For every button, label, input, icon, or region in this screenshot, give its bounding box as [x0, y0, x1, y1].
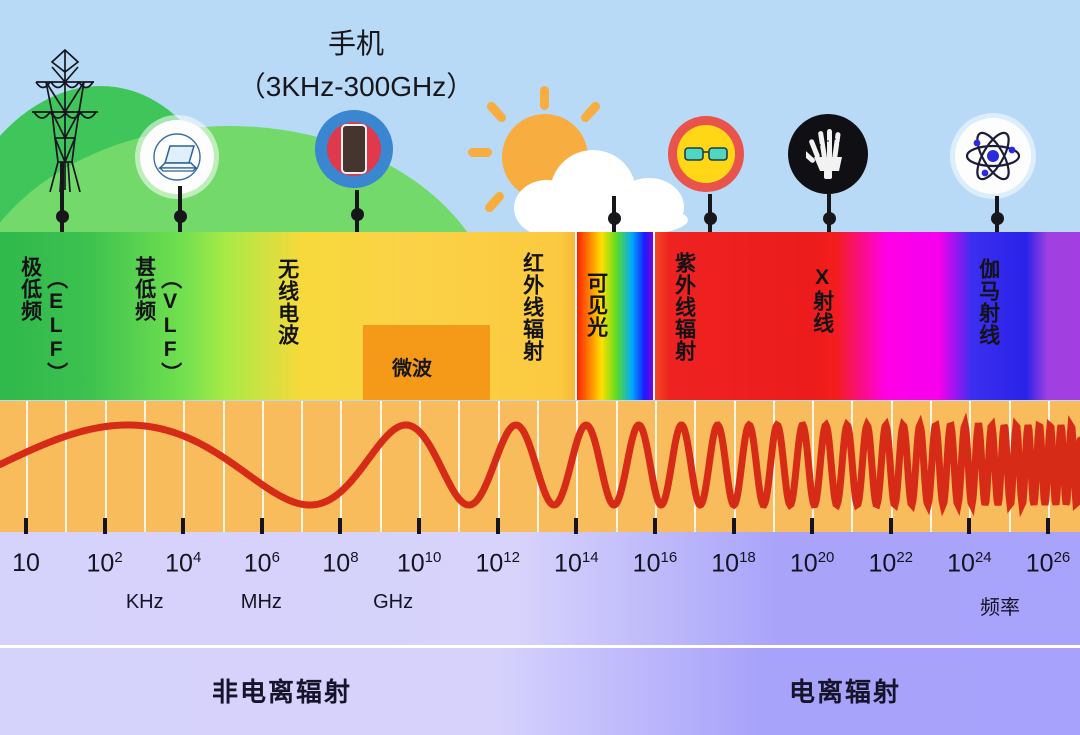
axis-title-frequency: 频率: [980, 591, 1020, 620]
band-label-elf-2: （ELF）: [44, 268, 67, 384]
axis-tick-label: 1022: [869, 549, 914, 578]
band-label-radio: 无线电波: [275, 258, 298, 346]
axis-tick: [496, 518, 500, 534]
axis-unit-mhz: MHz: [241, 591, 282, 614]
band-label-infrared: 红外线辐射: [520, 252, 543, 362]
sunglasses-lens-group: [677, 125, 735, 183]
waveform-curve: [0, 401, 1080, 532]
axis-tick: [574, 518, 578, 534]
axis-unit-ghz: GHz: [373, 591, 413, 614]
axis-tick-label: 1024: [947, 549, 992, 578]
axis-tick-label: 1016: [633, 549, 678, 578]
axis-tick: [24, 518, 28, 534]
footer-label-non-ionizing: 非电离辐射: [212, 672, 352, 709]
phone-red-ring: [327, 122, 381, 176]
band-label-gamma: 伽马射线: [976, 258, 999, 346]
axis-tick-label: 1014: [554, 549, 599, 578]
pin-head-elf: [56, 210, 69, 223]
band-label-vlf-1: 甚低频: [132, 256, 155, 322]
mobile-phone-icon: [315, 110, 393, 188]
axis-tick-label: 1018: [711, 549, 756, 578]
pin-head-uv: [704, 212, 717, 225]
axis-tick-label: 104: [165, 549, 201, 578]
axis-tick: [810, 518, 814, 534]
pin-head-visible: [608, 212, 621, 225]
band-label-uv: 紫外线辐射: [672, 252, 695, 362]
axis-tick-label: 10: [12, 549, 40, 578]
pin-stem-elf: [60, 162, 64, 242]
axis-tick-label: 1026: [1026, 549, 1071, 578]
electromagnetic-spectrum-infographic: 手机 （3KHz-300GHz） 极低频 （ELF） 甚低频 （VLF） 无线电…: [0, 0, 1080, 735]
scene-illustration: 手机 （3KHz-300GHz）: [0, 0, 1080, 232]
axis-tick-label: 106: [244, 549, 280, 578]
laptop-icon: [140, 120, 214, 194]
axis-tick-label: 1012: [475, 549, 520, 578]
axis-tick: [653, 518, 657, 534]
band-label-visible: 可见光: [584, 272, 607, 338]
band-label-xray: X射线: [810, 266, 833, 334]
axis-unit-khz: KHz: [126, 591, 164, 614]
sun-cloud-icon: [466, 86, 686, 232]
band-label-elf-1: 极低频: [18, 256, 41, 322]
xray-hand-icon: [788, 114, 868, 194]
waveform-panel: [0, 401, 1080, 532]
device-range-label: （3KHz-300GHz）: [238, 65, 475, 105]
frequency-axis: 1010210410610810101012101410161018102010…: [0, 532, 1080, 645]
axis-tick: [181, 518, 185, 534]
axis-tick: [260, 518, 264, 534]
axis-tick-label: 1020: [790, 549, 835, 578]
axis-tick: [732, 518, 736, 534]
cloud-shape: [514, 144, 694, 232]
phone-body: [341, 124, 367, 174]
axis-tick: [338, 518, 342, 534]
radiation-type-footer: 非电离辐射 电离辐射: [0, 645, 1080, 735]
band-label-microwave: 微波: [392, 352, 432, 381]
axis-tick: [889, 518, 893, 534]
axis-tick-label: 108: [322, 549, 358, 578]
axis-tick-label: 1010: [397, 549, 442, 578]
band-label-vlf-2: （VLF）: [158, 268, 181, 384]
pin-head-xray: [823, 212, 836, 225]
sunglasses-icon: [668, 116, 744, 192]
axis-tick-label: 102: [87, 549, 123, 578]
axis-tick: [1046, 518, 1050, 534]
power-tower-icon: [22, 42, 108, 192]
visible-edge-left: [575, 232, 577, 400]
atom-icon: [955, 118, 1031, 194]
pin-head-vlf: [174, 210, 187, 223]
axis-tick: [417, 518, 421, 534]
visible-edge-right: [653, 232, 655, 400]
pin-head-gamma: [991, 212, 1004, 225]
device-label: 手机: [328, 22, 384, 62]
footer-label-ionizing: 电离辐射: [789, 672, 901, 709]
axis-tick: [103, 518, 107, 534]
axis-tick: [967, 518, 971, 534]
pin-head-radio: [351, 208, 364, 221]
